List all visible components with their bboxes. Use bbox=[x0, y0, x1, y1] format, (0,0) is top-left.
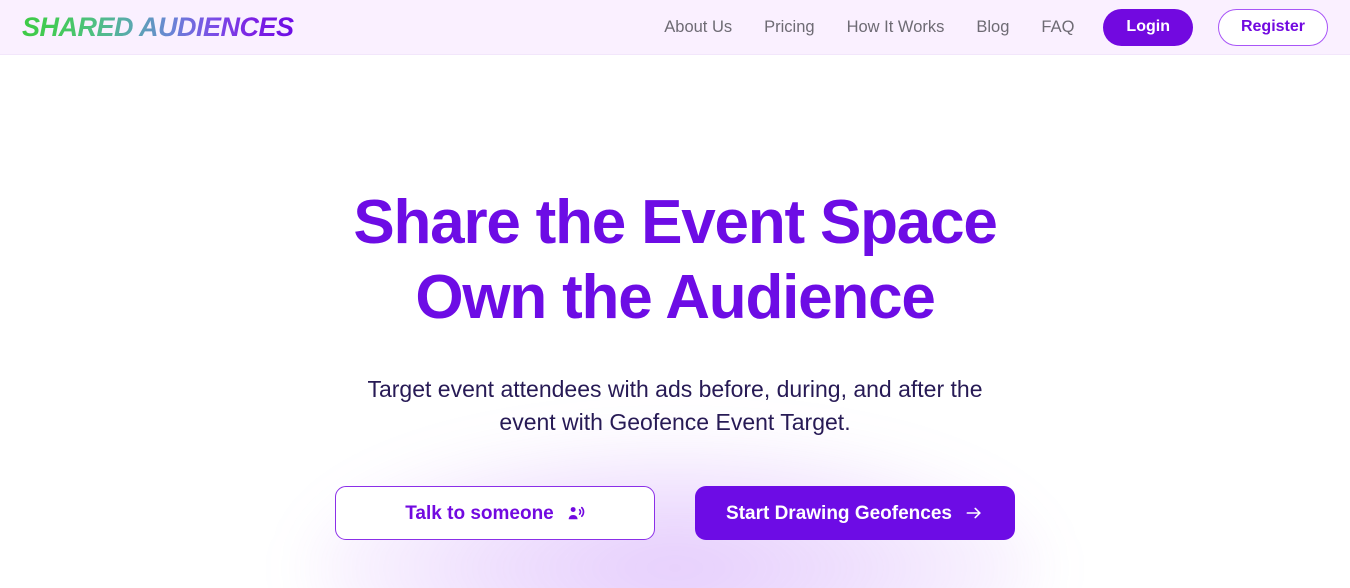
hero-subtitle: Target event attendees with ads before, … bbox=[0, 373, 1350, 438]
talk-to-someone-button[interactable]: Talk to someone bbox=[335, 486, 655, 540]
nav-item-blog[interactable]: Blog bbox=[960, 19, 1025, 36]
nav-item-how-it-works[interactable]: How It Works bbox=[831, 19, 961, 36]
hero-cta-row: Talk to someone Start Drawing Geofences bbox=[0, 486, 1350, 540]
nav-item-faq[interactable]: FAQ bbox=[1025, 19, 1090, 36]
nav-item-pricing[interactable]: Pricing bbox=[748, 19, 830, 36]
hero-headline-line-2: Own the Audience bbox=[0, 260, 1350, 335]
site-header: SHARED AUDIENCES About Us Pricing How It… bbox=[0, 0, 1350, 55]
arrow-right-icon bbox=[964, 503, 984, 523]
main-navigation: About Us Pricing How It Works Blog FAQ L… bbox=[648, 9, 1328, 46]
hero-subtitle-line-2: event with Geofence Event Target. bbox=[0, 406, 1350, 439]
hero-headline-line-1: Share the Event Space bbox=[0, 185, 1350, 260]
talk-to-someone-label: Talk to someone bbox=[405, 504, 554, 523]
register-button[interactable]: Register bbox=[1218, 9, 1328, 46]
hero-content: Share the Event Space Own the Audience T… bbox=[0, 185, 1350, 540]
landing-page: SHARED AUDIENCES About Us Pricing How It… bbox=[0, 0, 1350, 588]
login-button[interactable]: Login bbox=[1103, 9, 1193, 46]
hero-section: Share the Event Space Own the Audience T… bbox=[0, 55, 1350, 588]
nav-item-about-us[interactable]: About Us bbox=[648, 19, 748, 36]
hero-headline: Share the Event Space Own the Audience bbox=[0, 185, 1350, 335]
person-speaking-icon bbox=[566, 504, 585, 523]
hero-subtitle-line-1: Target event attendees with ads before, … bbox=[0, 373, 1350, 406]
brand-logo[interactable]: SHARED AUDIENCES bbox=[22, 12, 294, 43]
start-drawing-geofences-label: Start Drawing Geofences bbox=[726, 504, 952, 523]
start-drawing-geofences-button[interactable]: Start Drawing Geofences bbox=[695, 486, 1015, 540]
